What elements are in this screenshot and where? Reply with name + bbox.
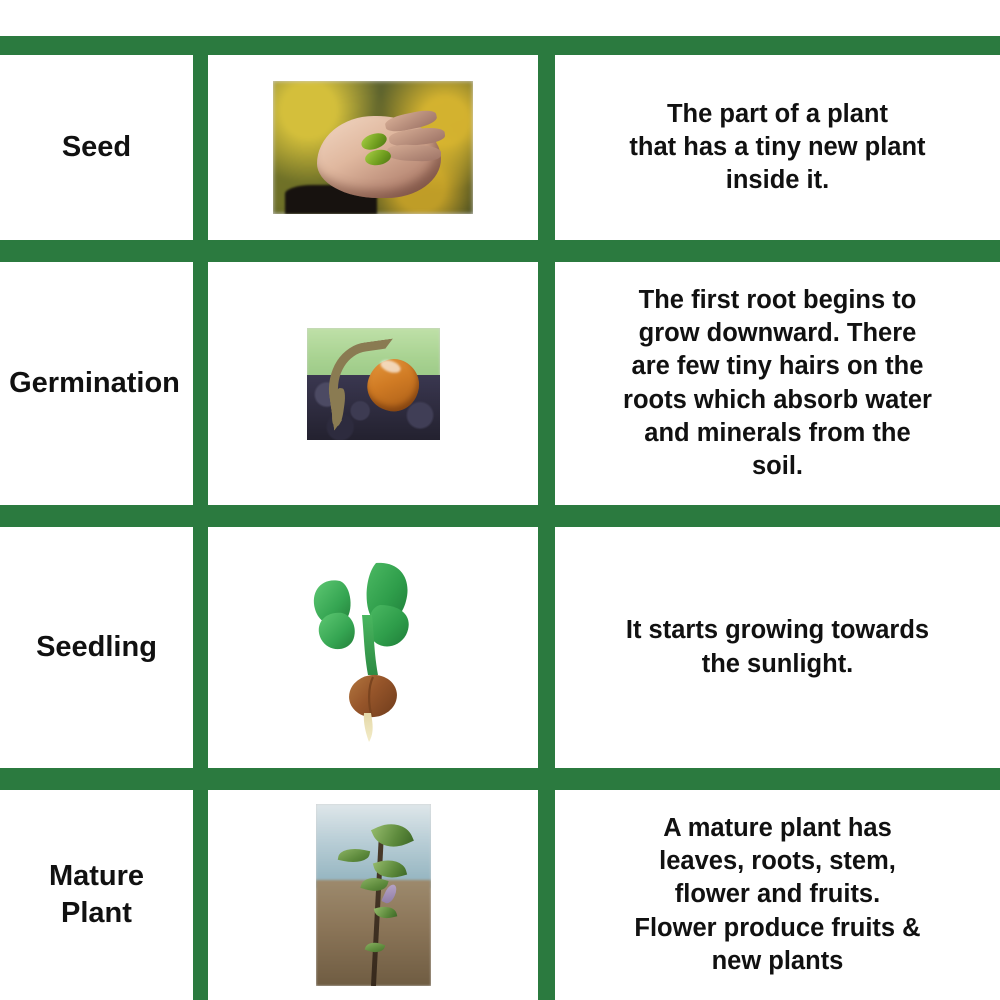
grid-gap: [538, 262, 555, 505]
grid-gap: [538, 55, 555, 240]
stage-cell-mature-plant: Mature Plant: [0, 790, 193, 1000]
description-line: leaves, roots, stem,: [634, 845, 920, 878]
illustration-cell-germination: [208, 262, 538, 505]
stage-label: Seed: [62, 129, 131, 166]
description-line: A mature plant has: [634, 812, 920, 845]
grid-line-top: [0, 36, 1000, 55]
illustration-cell-seed: [208, 55, 538, 240]
grid-gap: [538, 790, 555, 1000]
description-text: It starts growing towards the sunlight.: [620, 614, 935, 680]
stage-label-line: Mature: [49, 858, 144, 895]
hand-holding-seeds-photo: [273, 81, 473, 214]
description-text: A mature plant has leaves, roots, stem, …: [628, 812, 926, 978]
stage-label: Seedling: [36, 629, 157, 666]
description-line: inside it.: [629, 164, 925, 197]
description-cell-mature-plant: A mature plant has leaves, roots, stem, …: [555, 790, 1000, 1000]
grid-line-row1-row2: [0, 240, 1000, 262]
description-line: flower and fruits.: [634, 878, 920, 911]
table-row: Seedling: [0, 527, 1000, 768]
illustration-cell-mature-plant: [208, 790, 538, 1000]
leaf-shape: [368, 605, 408, 646]
description-text: The part of a plant that has a tiny new …: [623, 98, 931, 197]
stage-label-line: Plant: [49, 895, 144, 932]
leaf-shape: [319, 612, 355, 648]
description-text: The first root begins to grow downward. …: [617, 284, 938, 483]
sky-background: [316, 804, 431, 888]
description-line: It starts growing towards: [626, 614, 929, 647]
stage-cell-seedling: Seedling: [0, 527, 193, 768]
description-line: soil.: [623, 450, 932, 483]
root-shape: [364, 713, 373, 742]
description-line: The part of a plant: [629, 98, 925, 131]
grid-line-row3-row4: [0, 768, 1000, 790]
stage-label: Germination: [9, 365, 180, 402]
grid-gap: [193, 55, 208, 240]
description-line: and minerals from the: [623, 417, 932, 450]
stage-label: Mature Plant: [49, 858, 144, 932]
table-row: Mature Plant A mature plant has: [0, 790, 1000, 1000]
mature-plant-photo: [316, 804, 431, 986]
plant-growth-stages-table: Seed The part of a plant that has a tiny…: [0, 0, 1000, 1000]
grid-gap: [193, 790, 208, 1000]
germinating-seed-photo: [307, 328, 440, 440]
grid-line-row2-row3: [0, 505, 1000, 527]
stage-cell-seed: Seed: [0, 55, 193, 240]
description-line: the sunlight.: [626, 648, 929, 681]
grid-gap: [193, 262, 208, 505]
description-cell-seedling: It starts growing towards the sunlight.: [555, 527, 1000, 768]
description-line: that has a tiny new plant: [629, 131, 925, 164]
finger-shape: [387, 144, 442, 162]
illustration-cell-seedling: [208, 527, 538, 768]
description-line: Flower produce fruits &: [634, 912, 920, 945]
seedling-illustration: [288, 553, 458, 743]
grid-gap: [538, 527, 555, 768]
description-line: The first root begins to: [623, 284, 932, 317]
table-row: Seed The part of a plant that has a tiny…: [0, 55, 1000, 240]
seedling-svg: [288, 553, 458, 743]
description-cell-germination: The first root begins to grow downward. …: [555, 262, 1000, 505]
description-line: grow downward. There: [623, 317, 932, 350]
table-row: Germination The first root begins to gro…: [0, 262, 1000, 505]
description-cell-seed: The part of a plant that has a tiny new …: [555, 55, 1000, 240]
description-line: are few tiny hairs on the: [623, 350, 932, 383]
stage-cell-germination: Germination: [0, 262, 193, 505]
description-line: new plants: [634, 945, 920, 978]
grid-gap: [193, 527, 208, 768]
description-line: roots which absorb water: [623, 384, 932, 417]
